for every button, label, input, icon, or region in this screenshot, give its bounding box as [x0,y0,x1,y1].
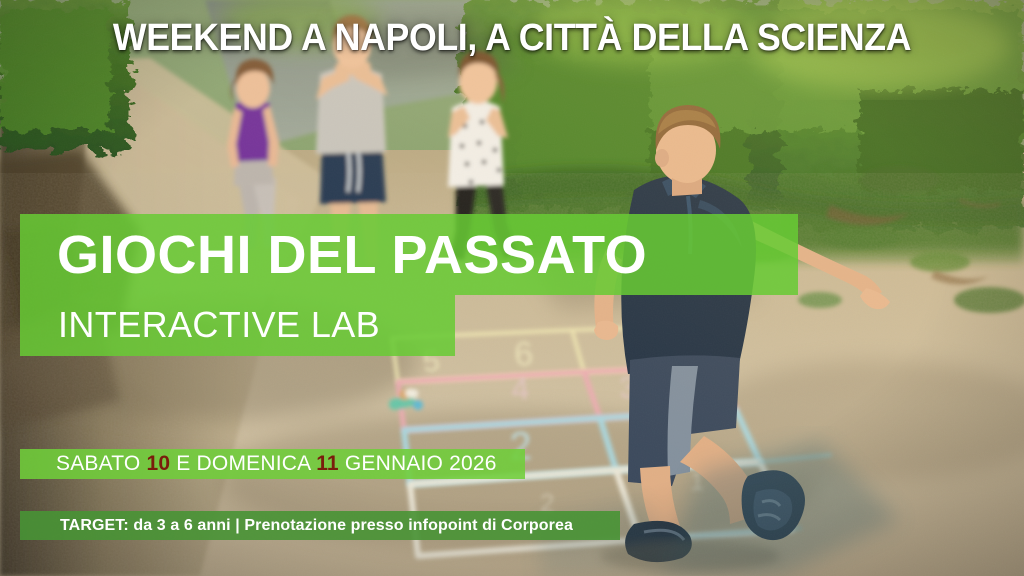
page-title: WEEKEND A NAPOLI, A CITTÀ DELLA SCIENZA [31,16,994,60]
date-day-second: 11 [316,452,339,475]
target-info: TARGET: da 3 a 6 anni | Prenotazione pre… [60,513,573,538]
date-suffix: GENNAIO 2026 [339,452,497,475]
date-middle: E DOMENICA [170,452,316,475]
event-subtitle: INTERACTIVE LAB [58,298,380,352]
date-prefix: SABATO [56,452,147,475]
target-age: da 3 a 6 anni [129,517,235,534]
target-label: TARGET: [60,517,129,534]
event-date: SABATO 10 E DOMENICA 11 GENNAIO 2026 [56,450,497,478]
target-booking: Prenotazione presso infopoint di Corpore… [240,517,573,534]
event-title: GIOCHI DEL PASSATO [57,219,647,291]
date-day-first: 10 [147,452,171,475]
poster-canvas: 6 5 4 3 2 3 2 1 [0,0,1024,576]
